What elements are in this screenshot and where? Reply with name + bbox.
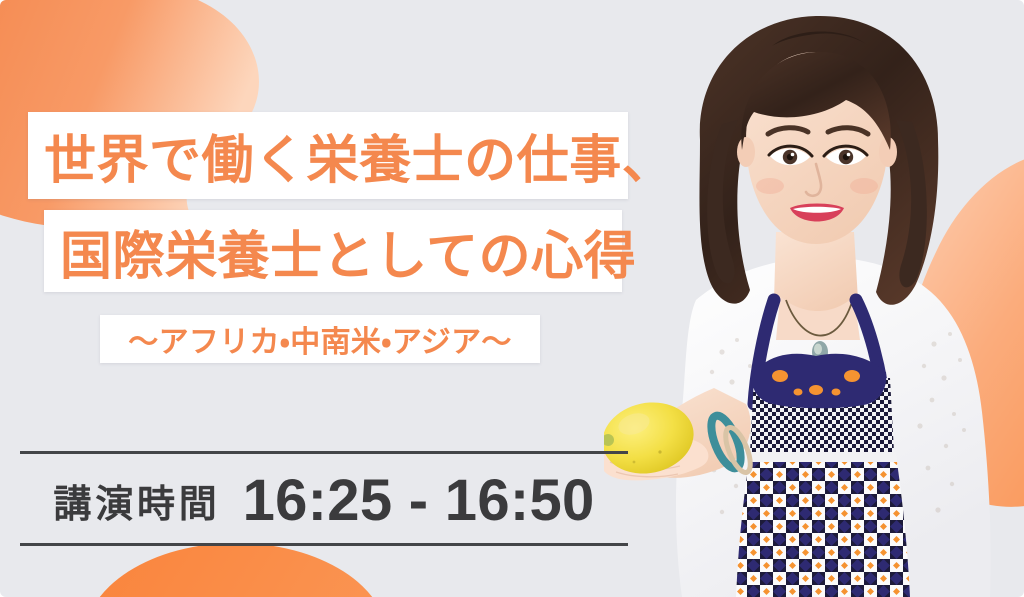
divider-bottom [20, 543, 628, 546]
divider-top [20, 451, 628, 454]
seminar-title-slide: 世界で働く栄養士の仕事、 国際栄養士としての心得 〜アフリカ・中南米・アジア〜 … [0, 0, 1024, 597]
session-time-label: 講演時間 [53, 473, 220, 528]
session-time-row: 講演時間 16:25 - 16:50 [20, 460, 628, 540]
subtitle: 〜アフリカ・中南米・アジア〜 [100, 315, 540, 363]
title-line-2: 国際栄養士としての心得 [44, 210, 622, 292]
session-time-value: 16:25 - 16:50 [243, 467, 595, 534]
title-line-1: 世界で働く栄養士の仕事、 [28, 112, 628, 199]
